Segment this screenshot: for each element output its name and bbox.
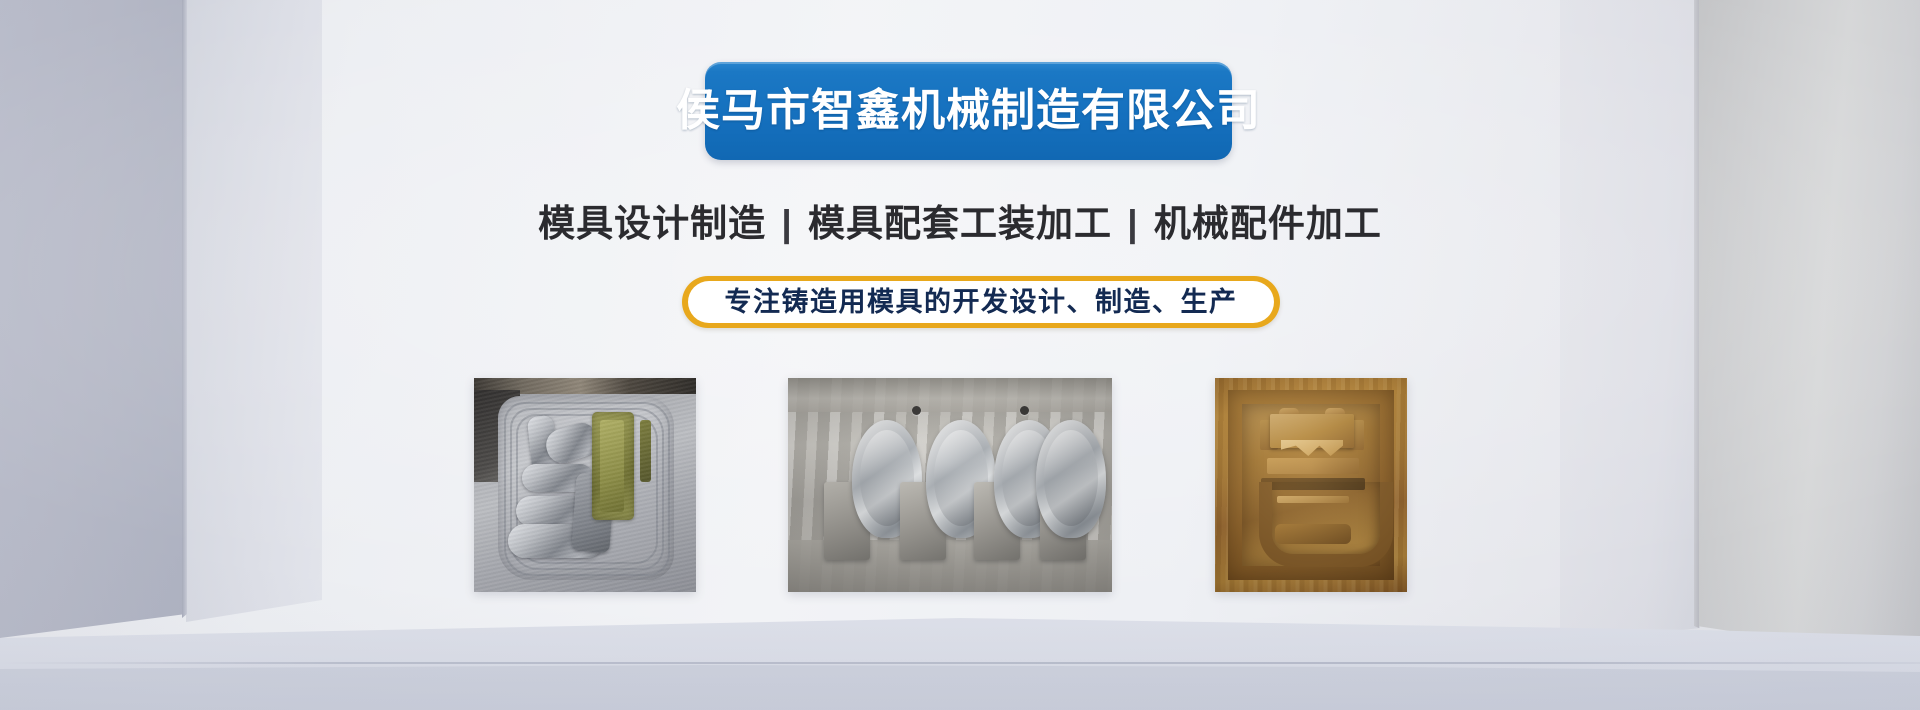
slogan-badge-inner: 专注铸造用模具的开发设计、制造、生产	[688, 281, 1274, 323]
product-photo-crankshaft-mould	[788, 378, 1112, 592]
service-item-2: 模具配套工装加工	[808, 203, 1112, 244]
photo2-vignette	[788, 378, 1112, 592]
photo3-content	[1215, 378, 1407, 592]
services-line: 模具设计制造 | 模具配套工装加工 | 机械配件加工	[0, 193, 1920, 247]
service-separator-1: |	[777, 203, 796, 244]
photo3-vignette	[1215, 378, 1407, 592]
company-title-bar: 侯马市智鑫机械制造有限公司	[705, 62, 1232, 160]
service-item-3: 机械配件加工	[1154, 203, 1382, 244]
service-separator-2: |	[1123, 203, 1142, 244]
slogan-text: 专注铸造用模具的开发设计、制造、生产	[725, 289, 1238, 316]
photo1-machining-texture	[474, 378, 696, 592]
photo2-content	[788, 378, 1112, 592]
product-photo-wooden-pattern	[1215, 378, 1407, 592]
slogan-badge: 专注铸造用模具的开发设计、制造、生产	[682, 276, 1280, 328]
company-title: 侯马市智鑫机械制造有限公司	[676, 89, 1261, 133]
photo1-content	[474, 378, 696, 592]
service-item-1: 模具设计制造	[538, 203, 766, 244]
product-photo-aluminium-die-cavity	[474, 378, 696, 592]
banner-stage: 侯马市智鑫机械制造有限公司 模具设计制造 | 模具配套工装加工 | 机械配件加工…	[0, 0, 1920, 710]
banner-content: 侯马市智鑫机械制造有限公司 模具设计制造 | 模具配套工装加工 | 机械配件加工…	[0, 0, 1920, 710]
product-photo-row	[0, 378, 1920, 598]
